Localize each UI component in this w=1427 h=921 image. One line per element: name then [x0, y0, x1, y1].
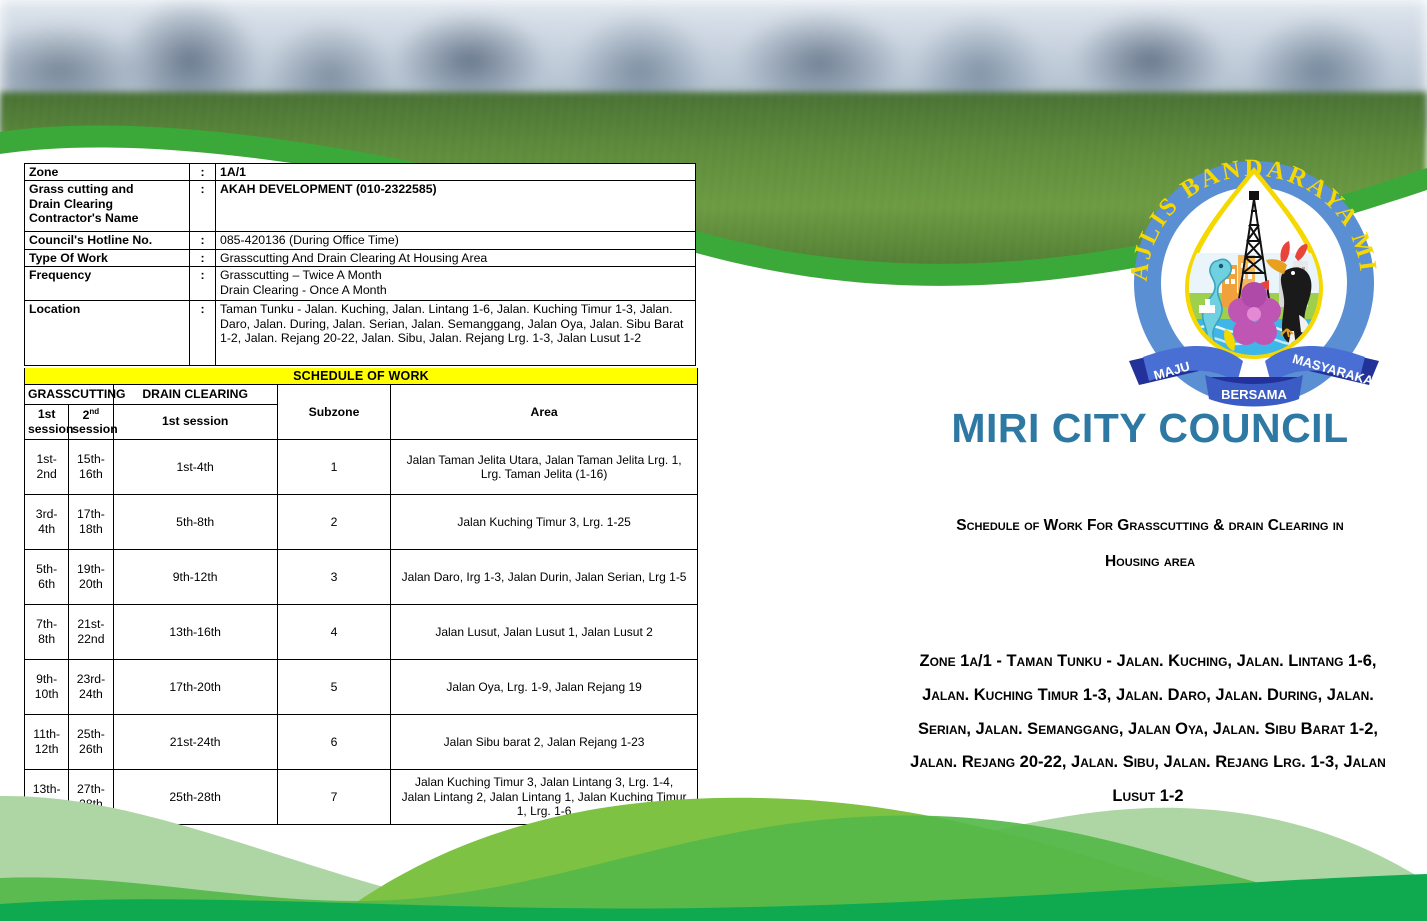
info-label: Zone — [25, 164, 190, 181]
info-label: Type Of Work — [25, 249, 190, 266]
header-grasscutting: GRASSCUTTING — [25, 385, 114, 405]
header-drain-clearing: DRAIN CLEARING — [113, 385, 277, 405]
table-row: 9th-10th 23rd-24th 17th-20th 5 Jalan Oya… — [25, 659, 698, 714]
table-row: Type Of Work : Grasscutting And Drain Cl… — [25, 249, 696, 266]
info-value: 085-420136 (During Office Time) — [216, 232, 696, 249]
header-gc-session1: 1stsession — [25, 404, 69, 439]
header-subzone: Subzone — [277, 385, 390, 440]
info-colon: : — [190, 181, 216, 232]
cell-gc2: 15th-16th — [69, 439, 113, 494]
subtitle-line-1: Schedule of Work For Grasscutting & drai… — [900, 508, 1400, 544]
cell-area: Jalan Taman Jelita Utara, Jalan Taman Je… — [391, 439, 698, 494]
subtitle-block: Schedule of Work For Grasscutting & drai… — [900, 508, 1400, 581]
table-row: 11th-12th 25th-26th 21st-24th 6 Jalan Si… — [25, 714, 698, 769]
info-value: AKAH DEVELOPMENT (010-2322585) — [216, 181, 696, 232]
cell-subzone: 5 — [277, 659, 390, 714]
cell-dc1: 5th-8th — [113, 494, 277, 549]
bottom-wave-decoration — [0, 786, 1427, 921]
cell-dc1: 17th-20th — [113, 659, 277, 714]
cell-subzone: 1 — [277, 439, 390, 494]
cell-gc2: 17th-18th — [69, 494, 113, 549]
header-area: Area — [391, 385, 698, 440]
cell-gc2: 25th-26th — [69, 714, 113, 769]
info-colon: : — [190, 164, 216, 181]
table-row: Location : Taman Tunku - Jalan. Kuching,… — [25, 301, 696, 366]
page-title: MIRI CITY COUNCIL — [900, 405, 1400, 452]
cell-gc2: 21st-22nd — [69, 604, 113, 659]
table-row: Council's Hotline No. : 085-420136 (Duri… — [25, 232, 696, 249]
cell-gc1: 3rd-4th — [25, 494, 69, 549]
cell-area: Jalan Kuching Timur 3, Lrg. 1-25 — [391, 494, 698, 549]
table-row: 5th-6th 19th-20th 9th-12th 3 Jalan Daro,… — [25, 549, 698, 604]
info-colon: : — [190, 301, 216, 366]
cell-gc1: 9th-10th — [25, 659, 69, 714]
zone-info-table: Zone : 1A/1 Grass cutting andDrain Clear… — [24, 163, 696, 366]
cell-gc1: 5th-6th — [25, 549, 69, 604]
table-header-group-row: GRASSCUTTING DRAIN CLEARING Subzone Area — [25, 385, 698, 405]
table-row: 7th-8th 21st-22nd 13th-16th 4 Jalan Lusu… — [25, 604, 698, 659]
cell-dc1: 9th-12th — [113, 549, 277, 604]
cell-gc2: 23rd-24th — [69, 659, 113, 714]
info-label: Council's Hotline No. — [25, 232, 190, 249]
info-value: Grasscutting – Twice A Month Drain Clear… — [216, 267, 696, 301]
miri-city-council-emblem: MAJLIS BANDARAYA MIRI — [1113, 133, 1395, 415]
table-row: 1st-2nd 15th-16th 1st-4th 1 Jalan Taman … — [25, 439, 698, 494]
cell-dc1: 13th-16th — [113, 604, 277, 659]
table-row: 3rd-4th 17th-18th 5th-8th 2 Jalan Kuchin… — [25, 494, 698, 549]
header-dc-session1: 1st session — [113, 404, 277, 439]
info-label: Frequency — [25, 267, 190, 301]
cell-area: Jalan Daro, Irg 1-3, Jalan Durin, Jalan … — [391, 549, 698, 604]
info-value: 1A/1 — [216, 164, 696, 181]
cell-area: Jalan Sibu barat 2, Jalan Rejang 1-23 — [391, 714, 698, 769]
cell-gc1: 11th-12th — [25, 714, 69, 769]
info-colon: : — [190, 232, 216, 249]
subtitle-line-2: Housing area — [900, 544, 1400, 580]
cell-subzone: 2 — [277, 494, 390, 549]
info-value: Taman Tunku - Jalan. Kuching, Jalan. Lin… — [216, 301, 696, 366]
info-label: Location — [25, 301, 190, 366]
cell-subzone: 3 — [277, 549, 390, 604]
header-gc-session2: 2ndsession — [69, 404, 113, 439]
schedule-of-work-banner: SCHEDULE OF WORK — [24, 368, 698, 385]
cell-dc1: 1st-4th — [113, 439, 277, 494]
cell-gc1: 1st-2nd — [25, 439, 69, 494]
cell-dc1: 21st-24th — [113, 714, 277, 769]
info-label: Grass cutting andDrain ClearingContracto… — [25, 181, 190, 232]
info-value: Grasscutting And Drain Clearing At Housi… — [216, 249, 696, 266]
cell-area: Jalan Lusut, Jalan Lusut 1, Jalan Lusut … — [391, 604, 698, 659]
cell-subzone: 4 — [277, 604, 390, 659]
cell-area: Jalan Oya, Lrg. 1-9, Jalan Rejang 19 — [391, 659, 698, 714]
cell-subzone: 6 — [277, 714, 390, 769]
table-row: Frequency : Grasscutting – Twice A Month… — [25, 267, 696, 301]
cell-gc1: 7th-8th — [25, 604, 69, 659]
info-colon: : — [190, 249, 216, 266]
cell-gc2: 19th-20th — [69, 549, 113, 604]
table-row: Zone : 1A/1 — [25, 164, 696, 181]
info-colon: : — [190, 267, 216, 301]
table-row: Grass cutting andDrain ClearingContracto… — [25, 181, 696, 232]
schedule-of-work-table: GRASSCUTTING DRAIN CLEARING Subzone Area… — [24, 384, 698, 825]
ribbon-center-text: BERSAMA — [1221, 387, 1287, 402]
